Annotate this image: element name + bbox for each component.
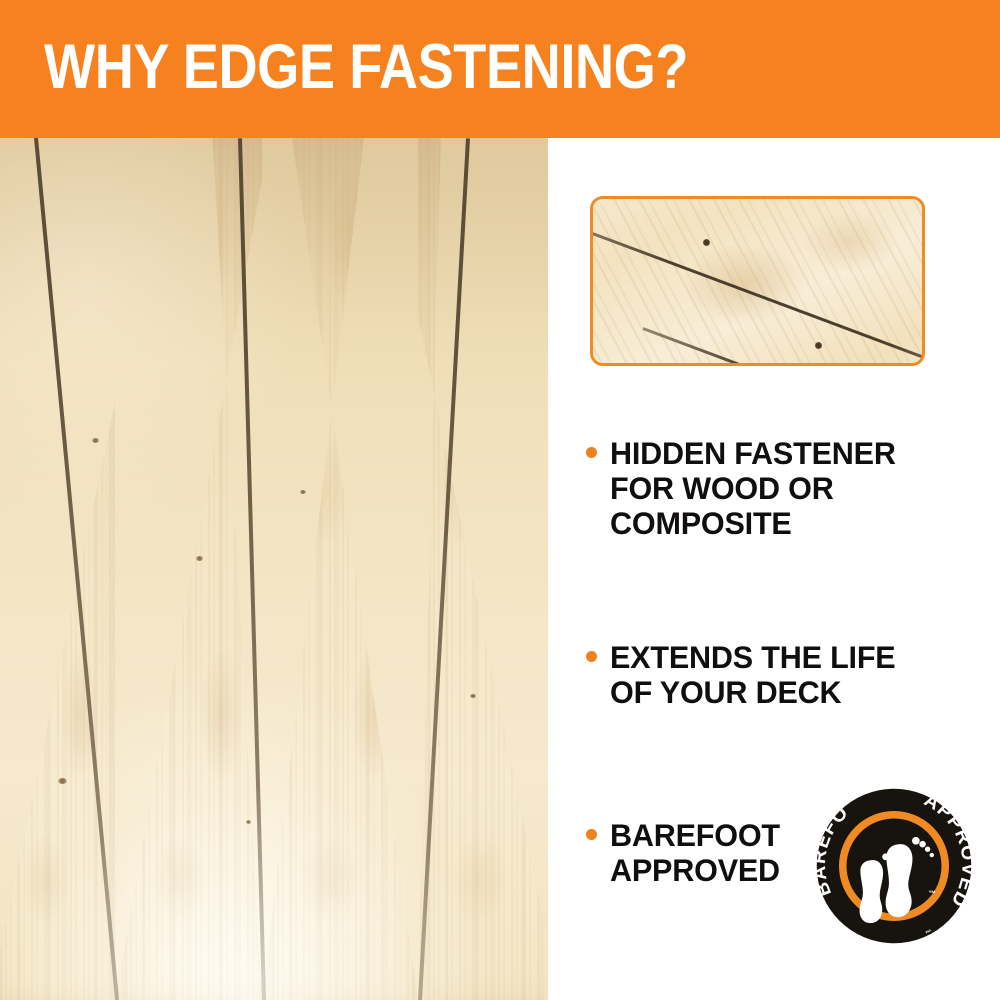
bullet-label: BAREFOOT APPROVED bbox=[610, 818, 780, 888]
barefoot-approved-badge: BAREFOOT APPROVED ™ bbox=[810, 782, 978, 950]
deck-knot-mark bbox=[196, 556, 203, 561]
header-band: WHY EDGE FASTENING? bbox=[0, 0, 1000, 138]
right-content-column: HIDDEN FASTENER FOR WOOD OR COMPOSITE EX… bbox=[548, 138, 1000, 1000]
bullet-dot-icon bbox=[586, 651, 597, 662]
deck-plank bbox=[0, 138, 115, 1000]
deck-planks-group bbox=[0, 138, 548, 1000]
marketing-graphic-page: WHY EDGE FASTENING? HIDDEN FASTENER FOR … bbox=[0, 0, 1000, 1000]
deck-knot-mark bbox=[58, 778, 67, 784]
deck-plank bbox=[115, 138, 262, 1000]
bullet-label: HIDDEN FASTENER FOR WOOD OR COMPOSITE bbox=[610, 436, 896, 541]
bullet-dot-icon bbox=[586, 829, 597, 840]
deck-plank bbox=[262, 138, 418, 1000]
thumbnail-fastener-mark bbox=[815, 342, 822, 349]
bullet-item-hidden-fastener: HIDDEN FASTENER FOR WOOD OR COMPOSITE bbox=[586, 436, 986, 541]
page-title: WHY EDGE FASTENING? bbox=[44, 36, 688, 99]
deck-knot-mark bbox=[470, 694, 476, 698]
deck-plank bbox=[418, 138, 548, 1000]
bullet-dot-icon bbox=[586, 447, 597, 458]
bullet-label: EXTENDS THE LIFE OF YOUR DECK bbox=[610, 640, 895, 710]
thumbnail-fastener-mark bbox=[703, 239, 710, 246]
deck-closeup-thumbnail bbox=[590, 196, 925, 366]
deck-knot-mark bbox=[246, 820, 251, 824]
badge-inner-trademark: ™ bbox=[928, 889, 936, 898]
deck-boards-photo bbox=[0, 138, 548, 1000]
bullet-item-extends-life: EXTENDS THE LIFE OF YOUR DECK bbox=[586, 640, 986, 710]
deck-knot-mark bbox=[92, 438, 99, 443]
deck-knot-mark bbox=[300, 490, 306, 494]
